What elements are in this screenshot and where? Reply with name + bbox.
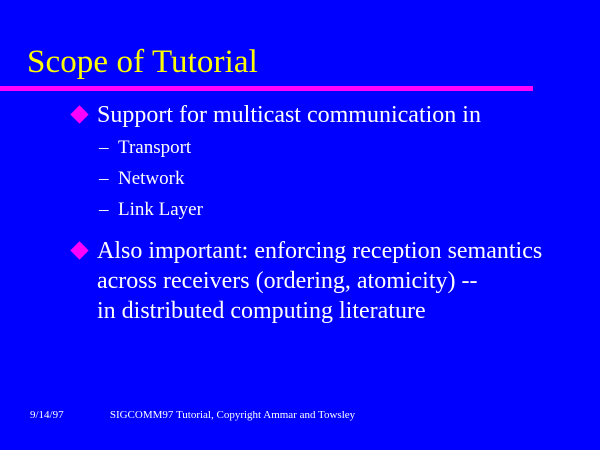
en-dash-bullet-icon: – bbox=[99, 163, 109, 194]
diamond-bullet-icon bbox=[70, 105, 88, 123]
bullet-group-1: Support for multicast communication in –… bbox=[0, 100, 600, 225]
sub-bullet-item-network: – Network bbox=[0, 163, 600, 194]
sub-bullet-item-network-label: Network bbox=[118, 168, 184, 189]
bullet-item-2: Also important: enforcing reception sema… bbox=[0, 236, 600, 326]
sub-bullet-item-transport-label: Transport bbox=[118, 137, 191, 158]
en-dash-bullet-icon: – bbox=[99, 194, 109, 225]
sub-bullet-item-link-layer: – Link Layer bbox=[0, 194, 600, 225]
title-divider bbox=[0, 86, 533, 91]
slide-body: Support for multicast communication in –… bbox=[0, 100, 600, 326]
slide-footer: 9/14/97 SIGCOMM97 Tutorial, Copyright Am… bbox=[0, 408, 600, 424]
sub-bullet-item-link-layer-label: Link Layer bbox=[118, 199, 203, 220]
sub-bullet-list-1: – Transport – Network – Link Layer bbox=[0, 132, 600, 225]
sub-bullet-item-transport: – Transport bbox=[0, 132, 600, 163]
footer-credit: SIGCOMM97 Tutorial, Copyright Ammar and … bbox=[0, 408, 465, 422]
bullet-item-2-label: Also important: enforcing reception sema… bbox=[97, 236, 600, 326]
bullet-item-1: Support for multicast communication in bbox=[0, 100, 600, 130]
slide: Scope of Tutorial Support for multicast … bbox=[0, 0, 600, 450]
bullet-item-1-label: Support for multicast communication in bbox=[97, 100, 600, 130]
diamond-bullet-icon bbox=[70, 241, 88, 259]
page-title: Scope of Tutorial bbox=[27, 42, 258, 82]
en-dash-bullet-icon: – bbox=[99, 132, 109, 163]
